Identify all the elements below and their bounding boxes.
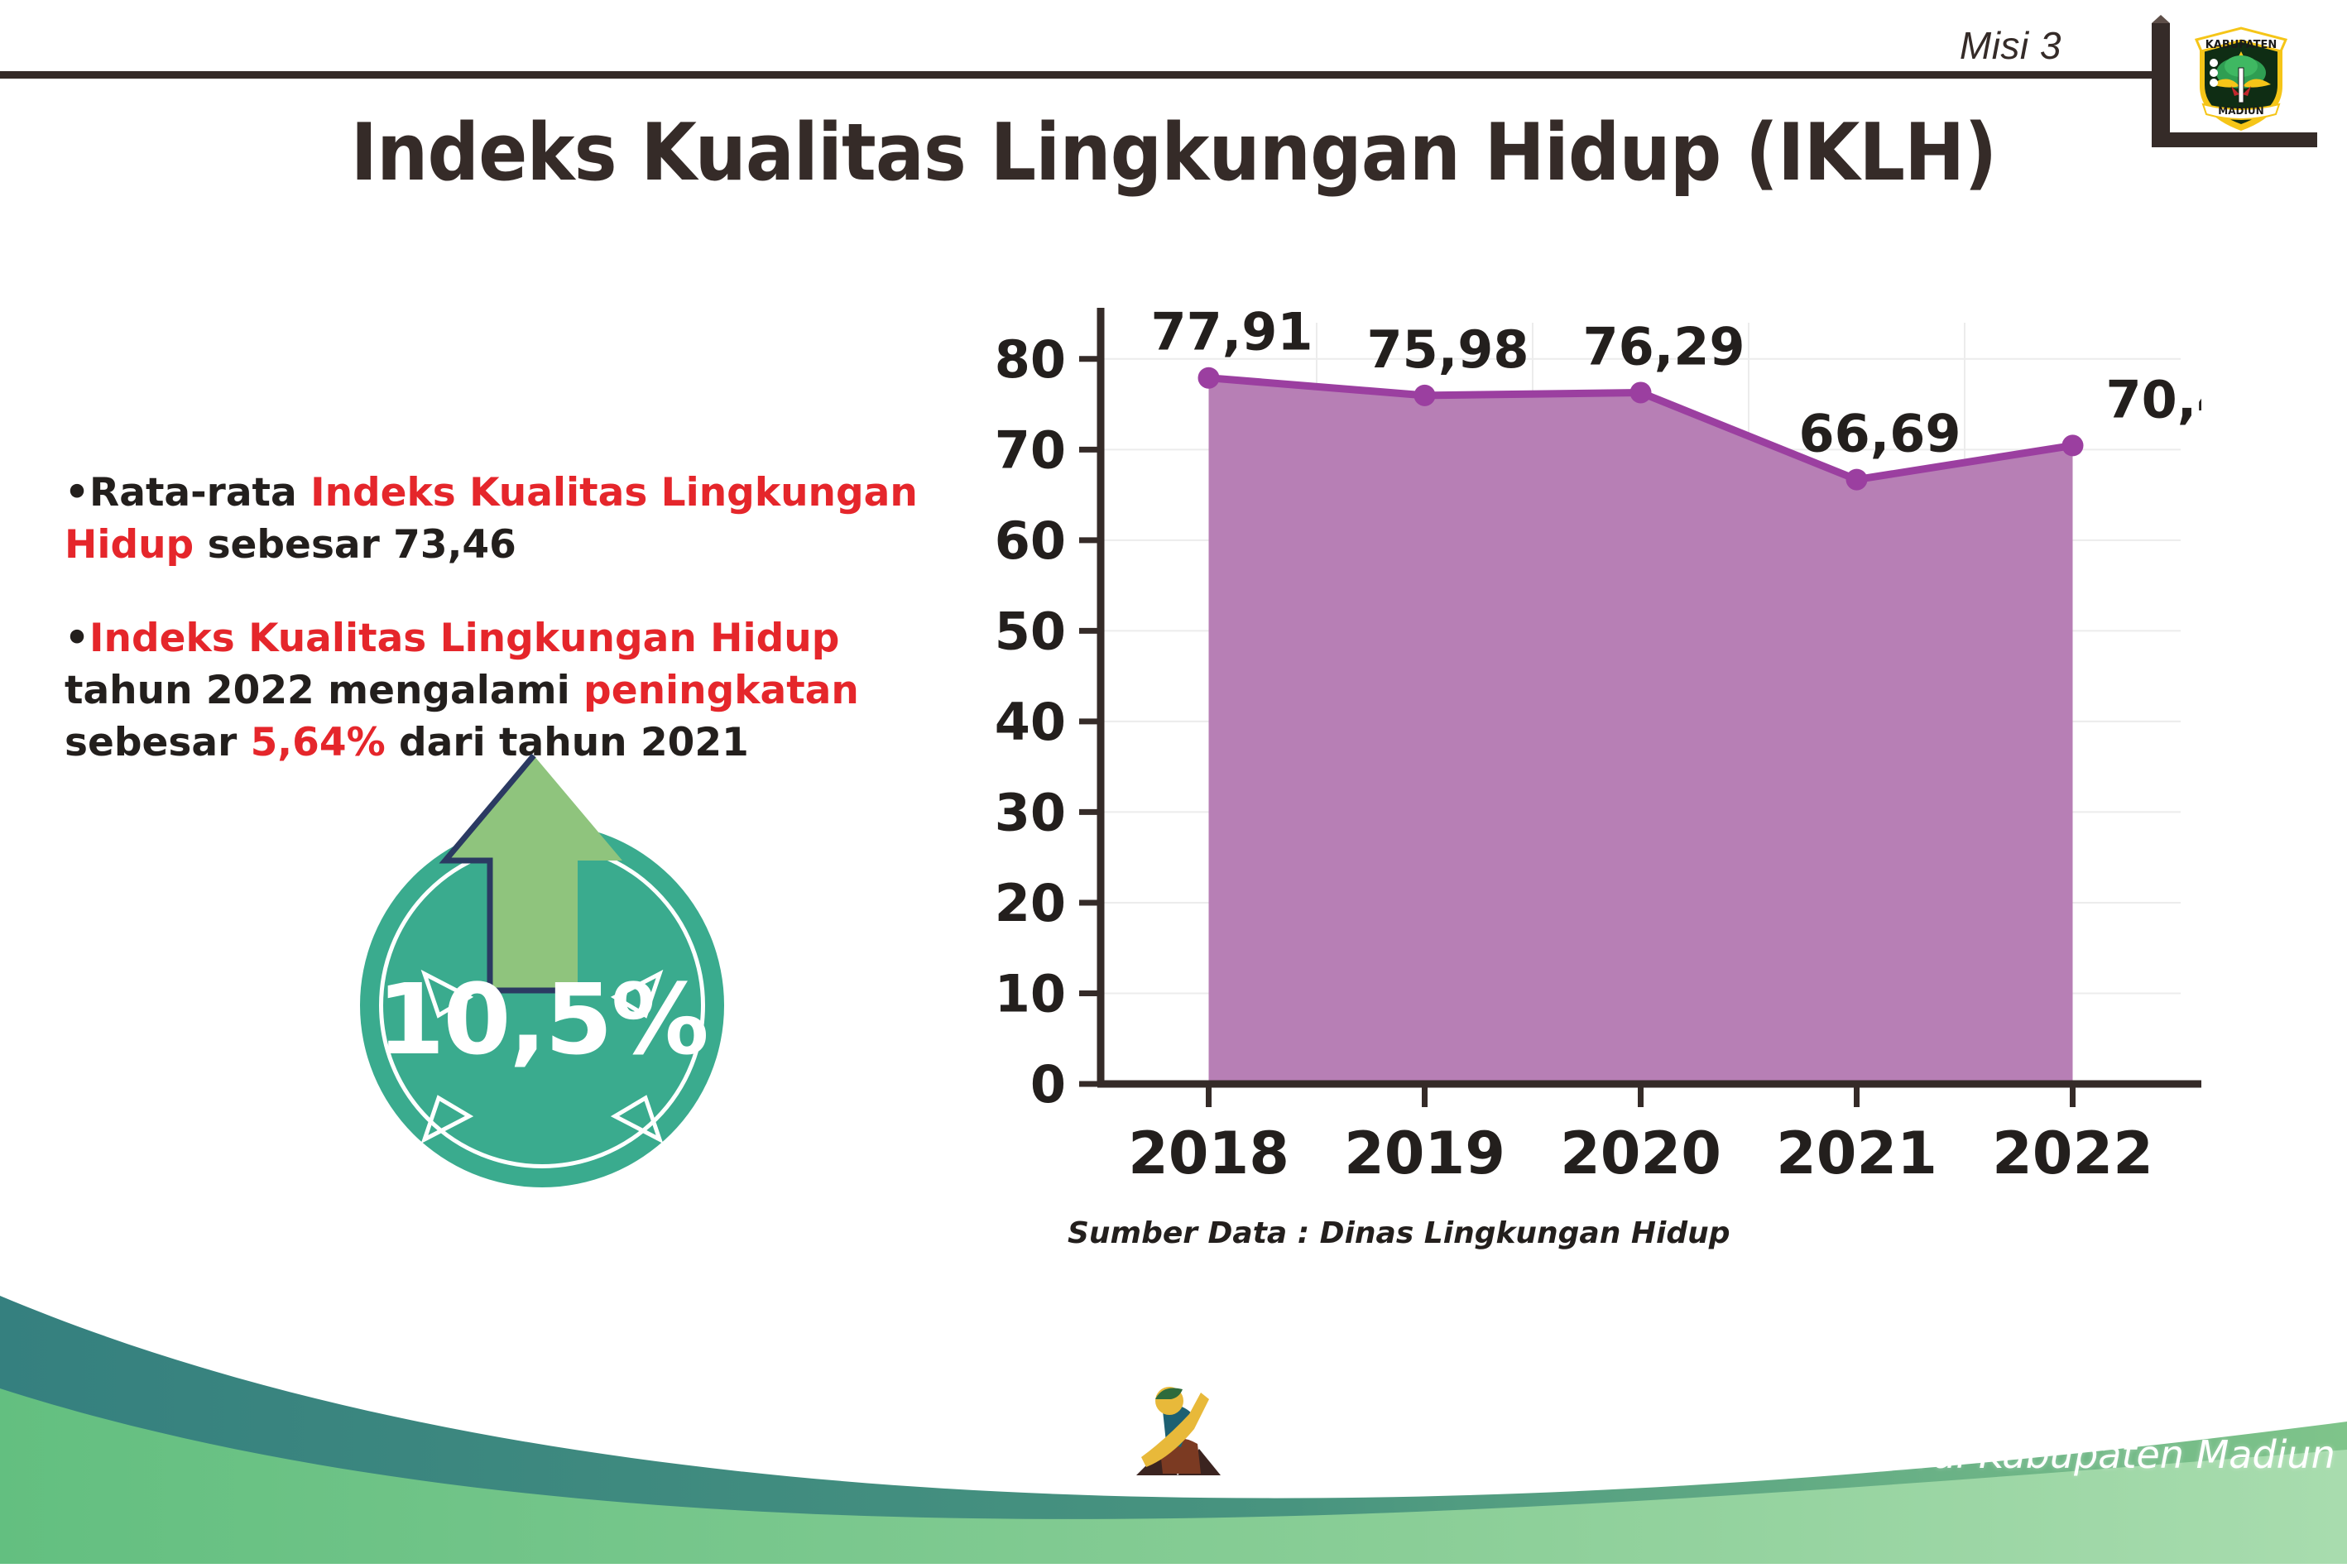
y-tick-label-30: 30 [995, 782, 1066, 842]
source-note: Sumber Data : Dinas Lingkungan Hidup [1068, 1216, 1730, 1250]
bullet-1-segment-3: peningkatan [583, 668, 859, 713]
data-label-2018: 77,91 [1150, 302, 1313, 362]
y-tick-label-40: 40 [995, 692, 1066, 752]
x-tick-label-2021: 2021 [1776, 1120, 1937, 1183]
y-tick-label-60: 60 [995, 511, 1066, 571]
x-tick-label-2019: 2019 [1344, 1120, 1505, 1183]
x-tick-label-2022: 2022 [1992, 1120, 2153, 1183]
badge-value-text: 10,5% [360, 962, 724, 1077]
data-label-2020: 76,29 [1582, 316, 1745, 376]
footer-caption: Media Infografis Data Statistik Sektoral… [1221, 1432, 2347, 1477]
x-tick-label-2018: 2018 [1128, 1120, 1289, 1183]
y-tick-label-0: 0 [1030, 1054, 1066, 1115]
bullet-0-segment-2: sebesar 73,46 [194, 522, 516, 568]
data-point-2022[interactable] [2062, 434, 2084, 456]
bullet-0-segment-0: •Rata-rata [65, 470, 310, 515]
increase-badge: 10,5% [323, 749, 753, 1187]
data-point-2018[interactable] [1198, 367, 1220, 389]
data-label-2019: 75,98 [1366, 319, 1529, 380]
bullet-1-segment-4: sebesar [65, 720, 251, 765]
data-point-2020[interactable] [1630, 381, 1652, 403]
data-label-2021: 66,69 [1798, 404, 1961, 464]
header-divider-line [0, 71, 2162, 79]
bullet-1-segment-1: Indeks Kualitas Lingkungan Hidup [89, 616, 839, 661]
misi-label: Misi 3 [1960, 23, 2061, 68]
page-title: Indeks Kualitas Lingkungan Hidup (IKLH) [94, 108, 2253, 199]
y-tick-label-70: 70 [995, 420, 1066, 480]
x-tick-label-2020: 2020 [1560, 1120, 1721, 1183]
emblem-top-banner-text: KABUPATEN [2205, 39, 2277, 51]
data-point-2019[interactable] [1414, 385, 1436, 406]
y-tick-label-50: 50 [995, 601, 1066, 661]
chart-area-fill [1209, 378, 2073, 1084]
media-infografis-logo-icon [1130, 1378, 1225, 1502]
bullet-item-change: •Indeks Kualitas Lingkungan Hidup tahun … [65, 613, 967, 770]
bullet-1-segment-2: tahun 2022 mengalami [65, 668, 583, 713]
y-tick-label-20: 20 [995, 873, 1066, 933]
y-tick-label-10: 10 [995, 963, 1066, 1024]
data-point-2021[interactable] [1846, 469, 1868, 491]
iklh-area-chart: 77,9175,9876,2966,6970,45010203040506070… [977, 290, 2201, 1183]
data-label-2022: 70,45 [2106, 369, 2202, 429]
bullet-1-segment-0: • [65, 616, 89, 661]
y-tick-label-80: 80 [995, 329, 1066, 390]
bullet-item-average: •Rata-rata Indeks Kualitas Lingkungan Hi… [65, 468, 967, 572]
